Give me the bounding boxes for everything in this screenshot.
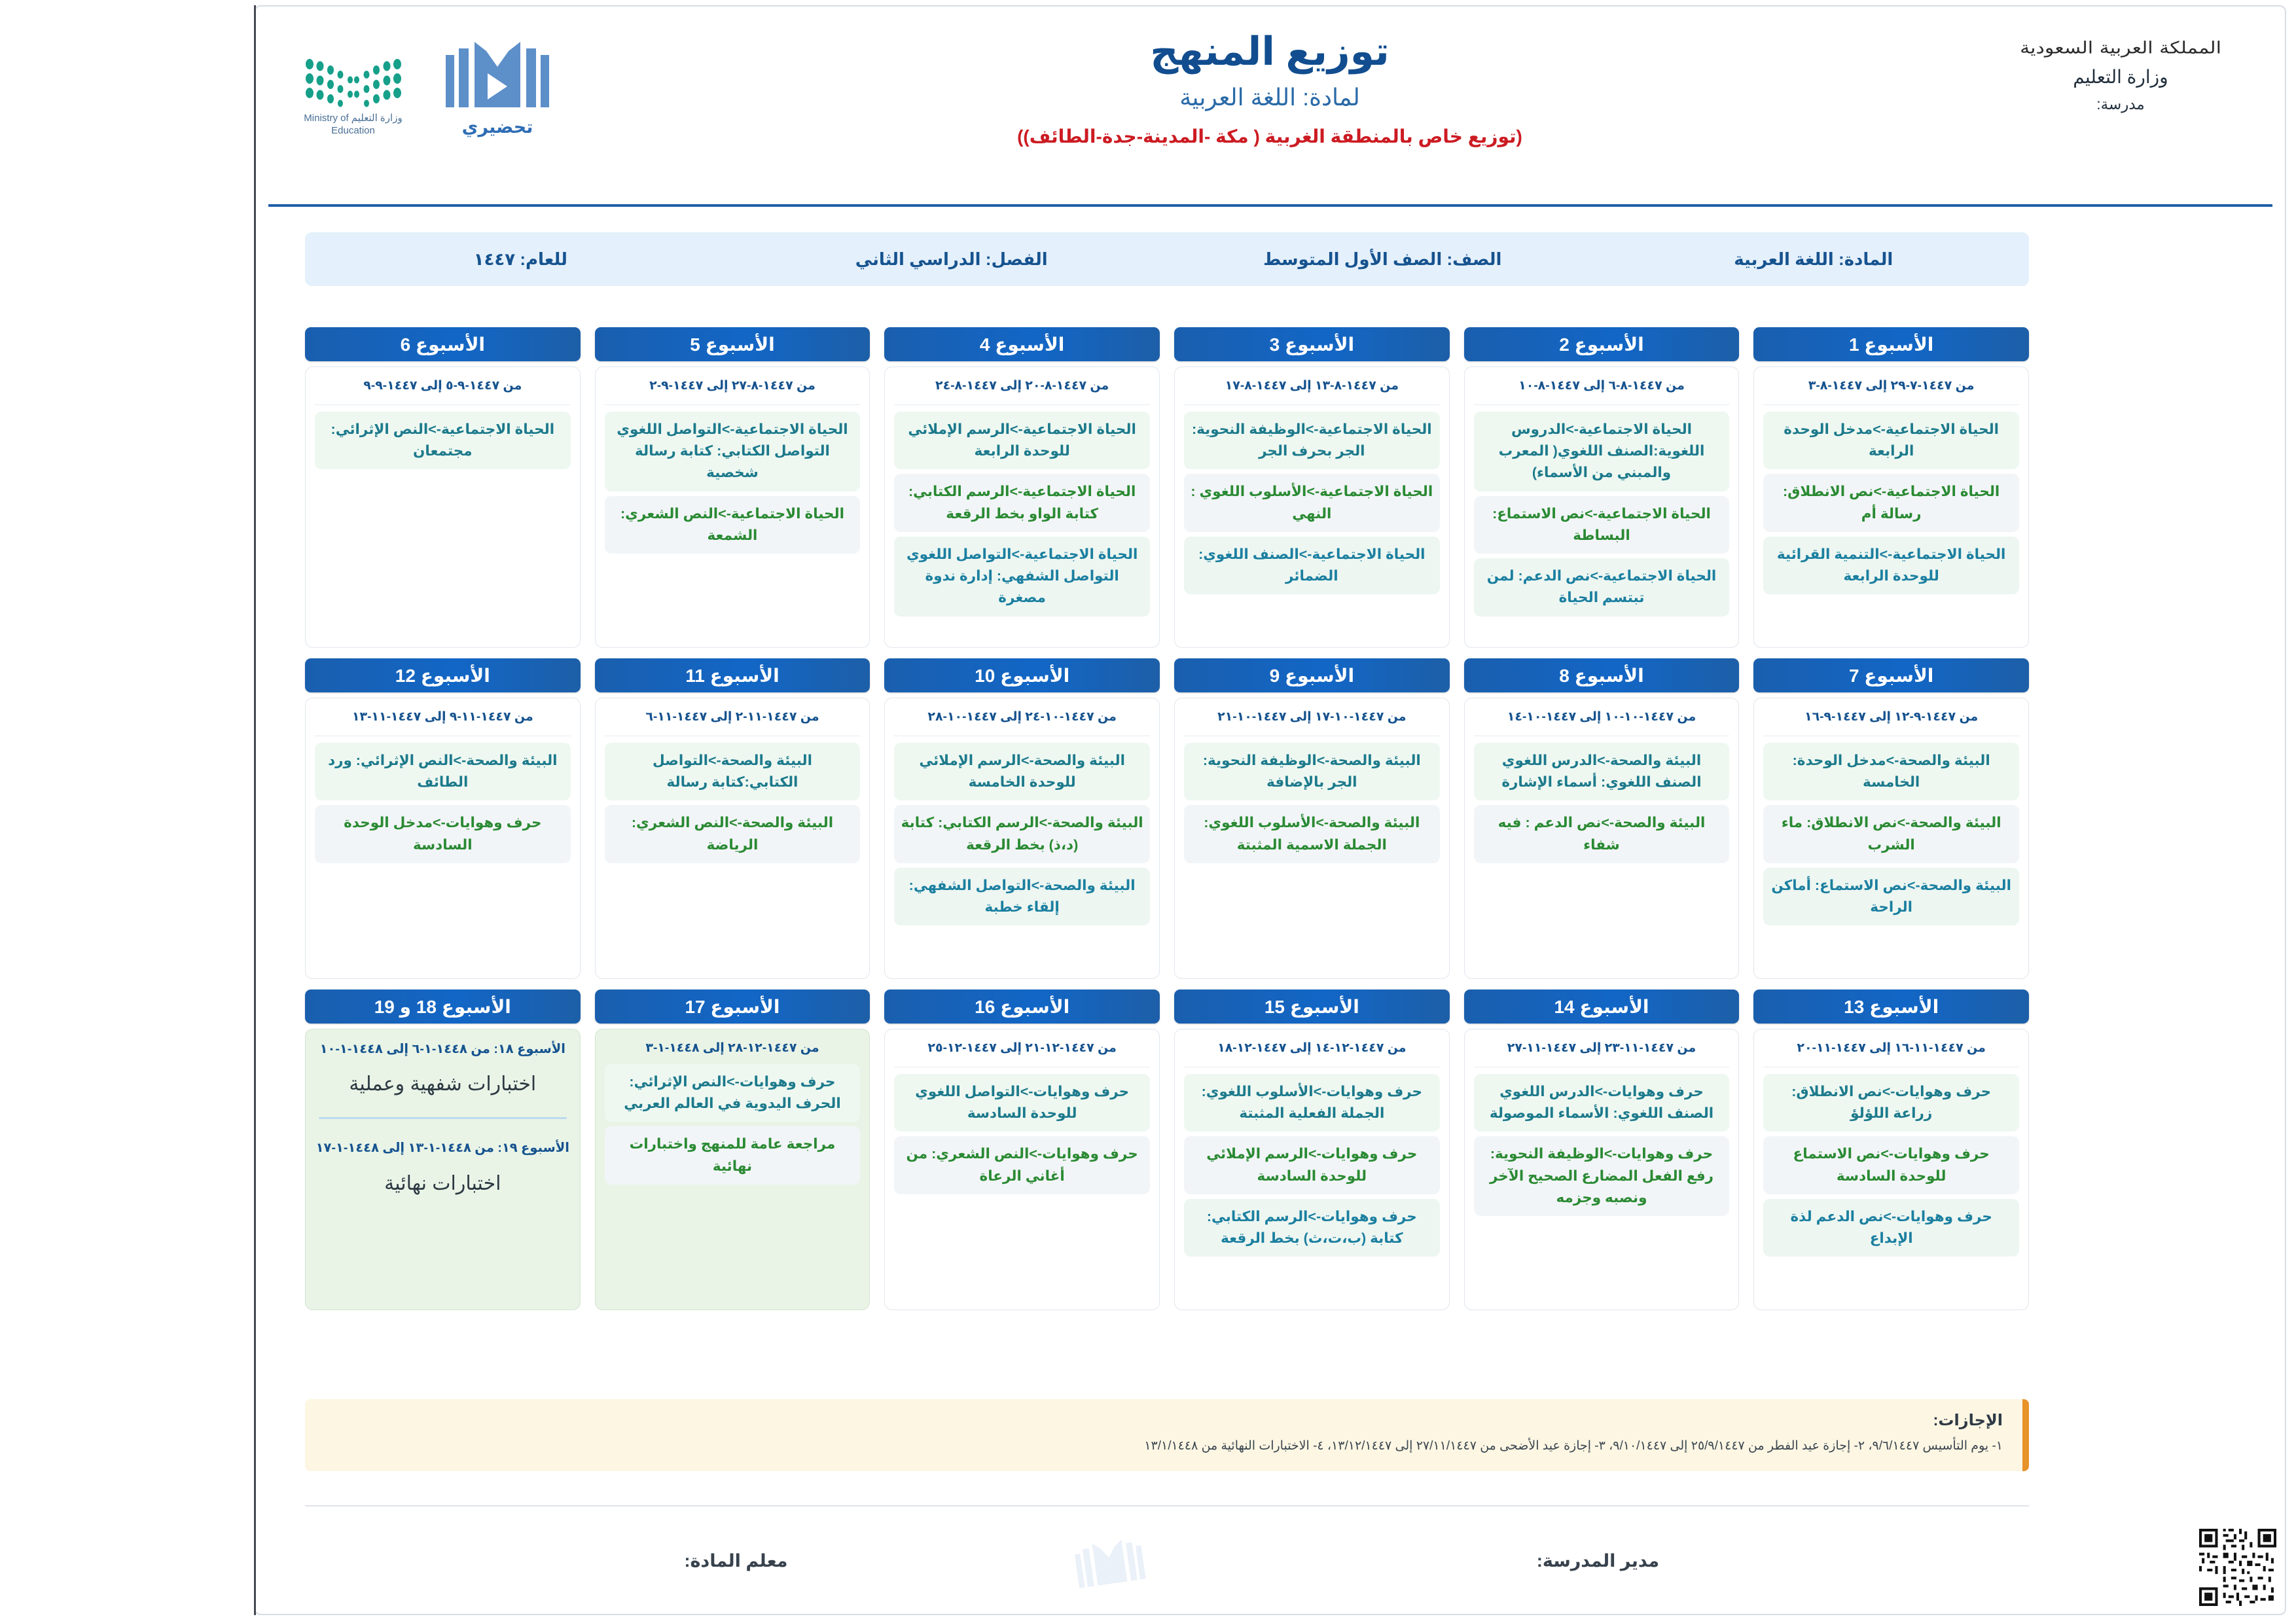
page-root: تحضيري: [0, 0, 2296, 1623]
week-date-range: من ١٤٤٧-١٢-٢٨ إلى ١٤٤٨-١-٣: [605, 1040, 861, 1061]
week-header[interactable]: الأسبوع 14: [1464, 990, 1740, 1024]
week-date-range: من ١٤٤٧-١١-٢٣ إلى ١٤٤٧-١١-٢٧: [1474, 1040, 1730, 1067]
week-header[interactable]: الأسبوع 6: [305, 327, 581, 361]
week-body: من ١٤٤٧-١٠-٢٤ إلى ١٤٤٧-١٠-٢٨البيئة والصح…: [884, 698, 1160, 979]
week-date-range: من ١٤٤٧-٧-٢٩ إلى ١٤٤٧-٨-٣: [1763, 378, 2019, 405]
week-cell: الأسبوع 5من ١٤٤٧-٨-٢٧ إلى ١٤٤٧-٩-٢الحياة…: [595, 327, 870, 648]
info-subject: المادة: اللغة العربية: [1598, 249, 2030, 270]
info-grade: الصف: الصف الأول المتوسط: [1167, 249, 1598, 270]
week-body: من ١٤٤٧-٨-٢٠ إلى ١٤٤٧-٨-٢٤الحياة الاجتما…: [884, 366, 1160, 648]
week-body: من ١٤٤٧-١١-١٦ إلى ١٤٤٧-١١-٢٠حرف وهوايات-…: [1753, 1029, 2029, 1310]
footer-divider: [305, 1505, 2029, 1507]
week-header[interactable]: الأسبوع 1: [1753, 327, 2029, 361]
lesson-item[interactable]: الحياة الاجتماعية->الرسم الإملائي للوحدة…: [894, 412, 1150, 470]
week-header[interactable]: الأسبوع 9: [1174, 658, 1450, 692]
week-cell: الأسبوع 10من ١٤٤٧-١٠-٢٤ إلى ١٤٤٧-١٠-٢٨ال…: [884, 658, 1160, 979]
week-header[interactable]: الأسبوع 17: [595, 990, 870, 1024]
lesson-item[interactable]: الحياة الاجتماعية->التواصل اللغوي التواص…: [894, 537, 1150, 616]
week-row: الأسبوع 7من ١٤٤٧-٩-١٢ إلى ١٤٤٧-٩-١٦البيئ…: [305, 658, 2029, 979]
lesson-item[interactable]: الحياة الاجتماعية->نص الانطلاق: رسالة أم: [1763, 474, 2019, 532]
week-body: من ١٤٤٧-١٠-١٠ إلى ١٤٤٧-١٠-١٤البيئة والصح…: [1464, 698, 1740, 979]
holidays-note: الإجازات: ١- يوم التأسيس ٩/٦/١٤٤٧، ٢- إج…: [305, 1399, 2029, 1471]
lesson-item[interactable]: البيئة والصحة->النص الشعري: الرياضة: [605, 805, 861, 863]
lesson-item[interactable]: مراجعة عامة للمنهج واختبارات نهائية: [605, 1126, 861, 1185]
subject-subtitle: لمادة: اللغة العربية: [262, 84, 2278, 111]
lesson-item[interactable]: حرف وهوايات->الوظيفة النحوية: رفع الفعل …: [1474, 1136, 1730, 1216]
lesson-item[interactable]: حرف وهوايات->الدرس اللغوي الصنف اللغوي: …: [1474, 1074, 1730, 1132]
document-header: تحضيري: [262, 13, 2278, 203]
lesson-item[interactable]: الحياة الاجتماعية->مدخل الوحدة الرابعة: [1763, 412, 2019, 470]
week-header[interactable]: الأسبوع 10: [884, 658, 1160, 692]
lesson-item[interactable]: البيئة والصحة->الرسم الإملائي للوحدة الخ…: [894, 743, 1150, 801]
week-date-range: من ١٤٤٧-٨-٢٠ إلى ١٤٤٧-٨-٢٤: [894, 378, 1150, 405]
week-cell: الأسبوع 8من ١٤٤٧-١٠-١٠ إلى ١٤٤٧-١٠-١٤الب…: [1464, 658, 1740, 979]
week-date-range: من ١٤٤٧-٩-٥ إلى ١٤٤٧-٩-٩: [315, 378, 571, 405]
lesson-item[interactable]: الحياة الاجتماعية->نص الاستماع: البساطة: [1474, 496, 1730, 554]
week-cell: الأسبوع 13من ١٤٤٧-١١-١٦ إلى ١٤٤٧-١١-٢٠حر…: [1753, 990, 2029, 1310]
week-header[interactable]: الأسبوع 12: [305, 658, 581, 692]
lesson-item[interactable]: الحياة الاجتماعية->النص الإثرائي: مجتمعا…: [315, 412, 571, 470]
lesson-item[interactable]: حرف وهوايات->التواصل اللغوي للوحدة الساد…: [894, 1074, 1150, 1132]
lesson-item[interactable]: الحياة الاجتماعية->الرسم الكتابي: كتابة …: [894, 474, 1150, 532]
lesson-item[interactable]: البيئة والصحة->النص الإثرائي: ورد الطائف: [315, 743, 571, 801]
week-cell: الأسبوع 9من ١٤٤٧-١٠-١٧ إلى ١٤٤٧-١٠-٢١الب…: [1174, 658, 1450, 979]
lesson-item[interactable]: الحياة الاجتماعية->نص الدعم: لمن تبتسم ا…: [1474, 558, 1730, 616]
lesson-item[interactable]: حرف وهوايات->نص الاستماع للوحدة السادسة: [1763, 1136, 2019, 1194]
week-body: من ١٤٤٧-٨-١٣ إلى ١٤٤٧-٨-١٧الحياة الاجتما…: [1174, 366, 1450, 648]
info-term: الفصل: الدراسي الثاني: [736, 249, 1168, 270]
week-cell: الأسبوع 12من ١٤٤٧-١١-٩ إلى ١٤٤٧-١١-١٣الب…: [305, 658, 581, 979]
exam-date-range: الأسبوع ١٨: من ١٤٤٨-١-٦ إلى ١٤٤٨-١-١٠: [315, 1040, 571, 1059]
lesson-item[interactable]: حرف وهوايات->النص الإثرائي: الحرف اليدوي…: [605, 1064, 861, 1122]
exam-separator: [319, 1117, 567, 1119]
week-cell: الأسبوع 6من ١٤٤٧-٩-٥ إلى ١٤٤٧-٩-٩الحياة …: [305, 327, 581, 648]
kingdom-calligraphy: المملكة العربية السعودية: [1983, 39, 2258, 58]
info-year: للعام: ١٤٤٧: [305, 249, 736, 270]
week-date-range: من ١٤٤٧-٨-٦ إلى ١٤٤٧-٨-١٠: [1474, 378, 1730, 405]
week-body: من ١٤٤٧-١١-٢٣ إلى ١٤٤٧-١١-٢٧حرف وهوايات-…: [1464, 1029, 1740, 1310]
lesson-item[interactable]: الحياة الاجتماعية->الصنف اللغوي: الضمائر: [1184, 537, 1440, 595]
signature-footer: مدير المدرسة: معلم المادة:: [305, 1525, 2029, 1597]
lesson-item[interactable]: حرف وهوايات->الرسم الإملائي للوحدة الساد…: [1184, 1136, 1440, 1194]
week-body: من ١٤٤٧-٧-٢٩ إلى ١٤٤٧-٨-٣الحياة الاجتماع…: [1753, 366, 2029, 648]
week-body: من ١٤٤٧-١١-٩ إلى ١٤٤٧-١١-١٣البيئة والصحة…: [305, 698, 581, 979]
week-date-range: من ١٤٤٧-١٠-٢٤ إلى ١٤٤٧-١٠-٢٨: [894, 709, 1150, 736]
lesson-item[interactable]: البيئة والصحة->التواصل الشفهي: إلقاء خطب…: [894, 868, 1150, 926]
exam-label: اختبارات شفهية وعملية: [315, 1069, 571, 1099]
lesson-item[interactable]: حرف وهوايات->النص الشعري: من أغاني الرعا…: [894, 1136, 1150, 1194]
week-cell: الأسبوع 3من ١٤٤٧-٨-١٣ إلى ١٤٤٧-٨-١٧الحيا…: [1174, 327, 1450, 648]
page-title: توزيع المنهج: [262, 29, 2278, 75]
week-date-range: من ١٤٤٧-٩-١٢ إلى ١٤٤٧-٩-١٦: [1763, 709, 2019, 736]
week-cell: الأسبوع 15من ١٤٤٧-١٢-١٤ إلى ١٤٤٧-١٢-١٨حر…: [1174, 990, 1450, 1310]
week-cell: الأسبوع 18 و 19الأسبوع ١٨: من ١٤٤٨-١-٦ إ…: [305, 990, 581, 1310]
week-date-range: من ١٤٤٧-١٠-١٠ إلى ١٤٤٧-١٠-١٤: [1474, 709, 1730, 736]
title-block: توزيع المنهج لمادة: اللغة العربية (توزيع…: [262, 29, 2278, 147]
exam-date-range: الأسبوع ١٩: من ١٤٤٨-١-١٣ إلى ١٤٤٨-١-١٧: [315, 1139, 571, 1158]
week-cell: الأسبوع 16من ١٤٤٧-١٢-٢١ إلى ١٤٤٧-١٢-٢٥حر…: [884, 990, 1160, 1310]
week-body: من ١٤٤٧-١١-٢ إلى ١٤٤٧-١١-٦البيئة والصحة-…: [595, 698, 870, 979]
week-cell: الأسبوع 14من ١٤٤٧-١١-٢٣ إلى ١٤٤٧-١١-٢٧حر…: [1464, 990, 1740, 1310]
week-cell: الأسبوع 1من ١٤٤٧-٧-٢٩ إلى ١٤٤٧-٨-٣الحياة…: [1753, 327, 2029, 648]
lesson-item[interactable]: حرف وهوايات->نص الانطلاق: زراعة اللؤلؤ: [1763, 1074, 2019, 1132]
exam-block: الأسبوع ١٨: من ١٤٤٨-١-٦ إلى ١٤٤٨-١-١٠اخت…: [315, 1040, 571, 1099]
week-body: من ١٤٤٧-١٢-٢١ إلى ١٤٤٧-١٢-٢٥حرف وهوايات-…: [884, 1029, 1160, 1310]
lesson-item[interactable]: الحياة الاجتماعية->الدروس اللغوية:الصنف …: [1474, 412, 1730, 491]
lesson-item[interactable]: حرف وهوايات->الأسلوب اللغوي: الجملة الفع…: [1184, 1074, 1440, 1132]
lesson-item[interactable]: حرف وهوايات->الرسم الكتابي: كتابة (ب،ت،ث…: [1184, 1199, 1440, 1257]
week-cell: الأسبوع 4من ١٤٤٧-٨-٢٠ إلى ١٤٤٧-٨-٢٤الحيا…: [884, 327, 1160, 648]
week-header[interactable]: الأسبوع 7: [1753, 658, 2029, 692]
week-header[interactable]: الأسبوع 13: [1753, 990, 2029, 1024]
school-field-label: مدرسة:: [1983, 96, 2258, 113]
teacher-signature-label: معلم المادة:: [305, 1551, 1167, 1571]
week-row: الأسبوع 13من ١٤٤٧-١١-١٦ إلى ١٤٤٧-١١-٢٠حر…: [305, 990, 2029, 1310]
lesson-item[interactable]: البيئة والصحة->نص الدعم : فيه شفاء: [1474, 805, 1730, 863]
week-cell: الأسبوع 2من ١٤٤٧-٨-٦ إلى ١٤٤٧-٨-١٠الحياة…: [1464, 327, 1740, 648]
week-grid: الأسبوع 1من ١٤٤٧-٧-٢٩ إلى ١٤٤٧-٨-٣الحياة…: [305, 327, 2029, 1310]
lesson-item[interactable]: الحياة الاجتماعية->التنمية القرائية للوح…: [1763, 537, 2019, 595]
left-rule: [254, 5, 256, 1615]
week-body: من ١٤٤٧-٨-٦ إلى ١٤٤٧-٨-١٠الحياة الاجتماع…: [1464, 366, 1740, 648]
week-cell: الأسبوع 17من ١٤٤٧-١٢-٢٨ إلى ١٤٤٨-١-٣حرف …: [595, 990, 870, 1310]
lesson-item[interactable]: البيئة والصحة->نص الاستماع: أماكن الراحة: [1763, 868, 2019, 926]
week-header[interactable]: الأسبوع 3: [1174, 327, 1450, 361]
week-body: من ١٤٤٧-٩-٥ إلى ١٤٤٧-٩-٩الحياة الاجتماعي…: [305, 366, 581, 648]
week-body: من ١٤٤٧-٩-١٢ إلى ١٤٤٧-٩-١٦البيئة والصحة-…: [1753, 698, 2029, 979]
week-date-range: من ١٤٤٧-٨-١٣ إلى ١٤٤٧-٨-١٧: [1184, 378, 1440, 405]
week-header[interactable]: الأسبوع 2: [1464, 327, 1740, 361]
exam-block: الأسبوع ١٩: من ١٤٤٨-١-١٣ إلى ١٤٤٨-١-١٧اخ…: [315, 1139, 571, 1198]
lesson-item[interactable]: الحياة الاجتماعية->النص الشعري: الشمعة: [605, 496, 861, 554]
holidays-accent-bar: [2022, 1399, 2029, 1471]
week-header[interactable]: الأسبوع 15: [1174, 990, 1450, 1024]
week-header[interactable]: الأسبوع 5: [595, 327, 870, 361]
qr-code[interactable]: [2199, 1529, 2276, 1606]
week-body: من ١٤٤٧-١٢-٢٨ إلى ١٤٤٨-١-٣حرف وهوايات->ا…: [595, 1029, 870, 1310]
lesson-item[interactable]: حرف وهوايات->مدخل الوحدة السادسة: [315, 805, 571, 863]
ministry-name: وزارة التعليم: [1983, 66, 2258, 88]
week-date-range: من ١٤٤٧-١١-٢ إلى ١٤٤٧-١١-٦: [605, 709, 861, 736]
week-row: الأسبوع 1من ١٤٤٧-٧-٢٩ إلى ١٤٤٧-٨-٣الحياة…: [305, 327, 2029, 648]
holidays-text: ١- يوم التأسيس ٩/٦/١٤٤٧، ٢- إجازة عيد ال…: [331, 1437, 2003, 1456]
week-body: من ١٤٤٧-١٢-١٤ إلى ١٤٤٧-١٢-١٨حرف وهوايات-…: [1174, 1029, 1450, 1310]
ministry-block: المملكة العربية السعودية وزارة التعليم م…: [1983, 37, 2258, 113]
holidays-title: الإجازات:: [1933, 1411, 2003, 1430]
week-date-range: من ١٤٤٧-١٢-١٤ إلى ١٤٤٧-١٢-١٨: [1184, 1040, 1440, 1067]
week-date-range: من ١٤٤٧-١١-١٦ إلى ١٤٤٧-١١-٢٠: [1763, 1040, 2019, 1067]
lesson-item[interactable]: البيئة والصحة->الدرس اللغوي الصنف اللغوي…: [1474, 743, 1730, 801]
week-cell: الأسبوع 7من ١٤٤٧-٩-١٢ إلى ١٤٤٧-٩-١٦البيئ…: [1753, 658, 2029, 979]
week-header[interactable]: الأسبوع 11: [595, 658, 870, 692]
week-header[interactable]: الأسبوع 4: [884, 327, 1160, 361]
region-note: (توزيع خاص بالمنطقة الغربية ( مكة -المدي…: [262, 126, 2278, 147]
week-body: من ١٤٤٧-١٠-١٧ إلى ١٤٤٧-١٠-٢١البيئة والصح…: [1174, 698, 1450, 979]
lesson-item[interactable]: البيئة والصحة->مدخل الوحدة: الخامسة: [1763, 743, 2019, 801]
week-header[interactable]: الأسبوع 16: [884, 990, 1160, 1024]
week-date-range: من ١٤٤٧-١٢-٢١ إلى ١٤٤٧-١٢-٢٥: [894, 1040, 1150, 1067]
principal-signature-label: مدير المدرسة:: [1167, 1551, 2029, 1571]
lesson-item[interactable]: البيئة والصحة->الرسم الكتابي: كتابة (د،ذ…: [894, 805, 1150, 863]
lesson-item[interactable]: الحياة الاجتماعية->الوظيفة النحوية: الجر…: [1184, 412, 1440, 470]
lesson-item[interactable]: حرف وهوايات->نص الدعم لذة الإبداع: [1763, 1199, 2019, 1257]
lesson-item[interactable]: البيئة والصحة->نص الانطلاق: ماء الشرب: [1763, 805, 2019, 863]
week-header[interactable]: الأسبوع 18 و 19: [305, 990, 581, 1024]
week-cell: الأسبوع 11من ١٤٤٧-١١-٢ إلى ١٤٤٧-١١-٦البي…: [595, 658, 870, 979]
week-body: من ١٤٤٧-٨-٢٧ إلى ١٤٤٧-٩-٢الحياة الاجتماع…: [595, 366, 870, 648]
week-date-range: من ١٤٤٧-١٠-١٧ إلى ١٤٤٧-١٠-٢١: [1184, 709, 1440, 736]
week-body: الأسبوع ١٨: من ١٤٤٨-١-٦ إلى ١٤٤٨-١-١٠اخت…: [305, 1029, 581, 1310]
week-date-range: من ١٤٤٧-٨-٢٧ إلى ١٤٤٧-٩-٢: [605, 378, 861, 405]
lesson-item[interactable]: الحياة الاجتماعية->الأسلوب اللغوي : النه…: [1184, 474, 1440, 532]
week-date-range: من ١٤٤٧-١١-٩ إلى ١٤٤٧-١١-١٣: [315, 709, 571, 736]
lesson-item[interactable]: البيئة والصحة->الأسلوب اللغوي: الجملة ال…: [1184, 805, 1440, 863]
lesson-item[interactable]: البيئة والصحة->الوظيفة النحوية: الجر بال…: [1184, 743, 1440, 801]
info-bar: المادة: اللغة العربية الصف: الصف الأول ا…: [305, 232, 2029, 286]
exam-label: اختبارات نهائية: [315, 1169, 571, 1198]
header-divider: [268, 204, 2272, 207]
lesson-item[interactable]: الحياة الاجتماعية->التواصل اللغوي التواص…: [605, 412, 861, 491]
week-header[interactable]: الأسبوع 8: [1464, 658, 1740, 692]
lesson-item[interactable]: البيئة والصحة->التواصل الكتابي:كتابة رسا…: [605, 743, 861, 801]
